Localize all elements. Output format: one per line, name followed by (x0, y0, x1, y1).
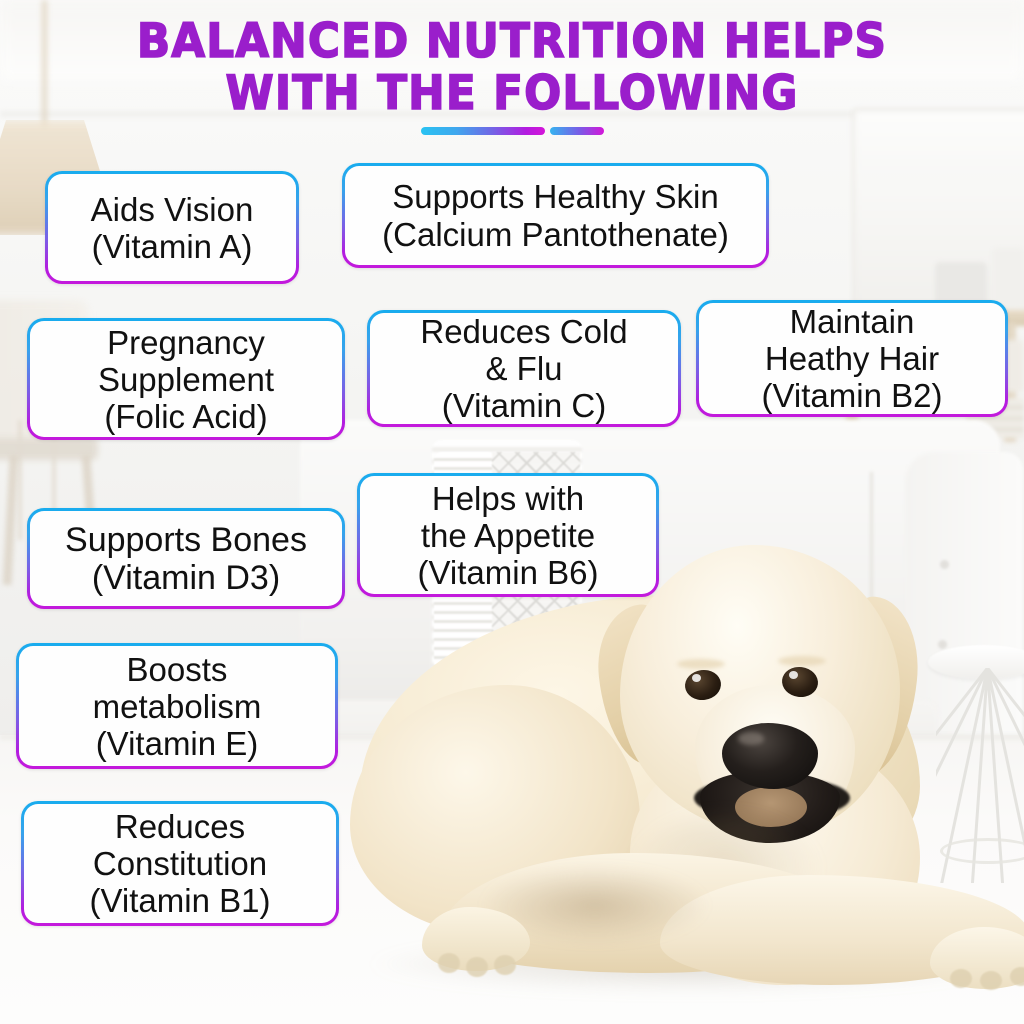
title-line-1: Balanced Nutrition Helps (36, 16, 988, 68)
benefit-card-healthy-skin[interactable]: Supports Healthy Skin (Calcium Pantothen… (342, 163, 769, 268)
benefit-card-inner: Boosts metabolism (Vitamin E) (19, 646, 335, 766)
gradient-divider (0, 127, 1024, 135)
benefit-line: Boosts (127, 651, 228, 688)
dog-toe (950, 969, 972, 988)
benefit-card-inner: Supports Bones (Vitamin D3) (30, 511, 342, 606)
benefit-card-inner: Maintain Heathy Hair (Vitamin B2) (699, 303, 1005, 414)
benefit-line: metabolism (93, 688, 262, 725)
benefit-line: Reduces (115, 808, 245, 845)
benefit-line: (Vitamin A) (92, 228, 253, 265)
dog-eye-highlight (789, 671, 798, 679)
benefit-card-cold-flu[interactable]: Reduces Cold & Flu (Vitamin C) (367, 310, 681, 427)
divider-segment-short (550, 127, 604, 135)
divider-segment-long (421, 127, 545, 135)
benefit-card-boosts-metabolism[interactable]: Boosts metabolism (Vitamin E) (16, 643, 338, 769)
benefit-line: Constitution (93, 845, 267, 882)
benefit-line: (Vitamin B2) (762, 377, 943, 414)
benefit-card-inner: Helps with the Appetite (Vitamin B6) (360, 476, 656, 594)
benefit-line: (Vitamin E) (96, 725, 259, 762)
benefit-card-inner: Aids Vision (Vitamin A) (48, 174, 296, 281)
dog-toe (466, 957, 488, 977)
benefit-card-aids-vision[interactable]: Aids Vision (Vitamin A) (45, 171, 299, 284)
benefit-card-pregnancy[interactable]: Pregnancy Supplement (Folic Acid) (27, 318, 345, 440)
benefit-line: (Calcium Pantothenate) (382, 216, 729, 254)
benefit-card-appetite[interactable]: Helps with the Appetite (Vitamin B6) (357, 473, 659, 597)
benefit-card-inner: Reduces Constitution (Vitamin B1) (24, 804, 336, 923)
benefit-line: (Vitamin D3) (92, 559, 280, 597)
dog-nose-highlight (738, 732, 764, 745)
dog-toe (980, 971, 1002, 990)
benefit-line: Reduces Cold (420, 313, 627, 350)
dog-eye-highlight (692, 674, 701, 682)
benefit-line: Supports Bones (65, 521, 307, 559)
benefit-line: Aids Vision (91, 191, 254, 228)
dog-brow-right (778, 656, 826, 666)
benefit-card-supports-bones[interactable]: Supports Bones (Vitamin D3) (27, 508, 345, 609)
benefit-line: & Flu (485, 350, 562, 387)
benefit-card-inner: Pregnancy Supplement (Folic Acid) (30, 321, 342, 437)
benefit-line: Heathy Hair (765, 340, 939, 377)
benefit-card-healthy-hair[interactable]: Maintain Heathy Hair (Vitamin B2) (696, 300, 1008, 417)
benefit-card-reduces-constitution[interactable]: Reduces Constitution (Vitamin B1) (21, 801, 339, 926)
benefit-line: the Appetite (421, 517, 595, 554)
dog-toe (438, 953, 460, 973)
infographic-poster: Balanced Nutrition Helps With The Follow… (0, 0, 1024, 1024)
benefit-line: Supplement (98, 361, 274, 398)
labrador-puppy (330, 535, 1024, 1024)
benefit-card-inner: Reduces Cold & Flu (Vitamin C) (370, 313, 678, 424)
benefit-line: (Vitamin B6) (418, 554, 599, 591)
benefit-line: Supports Healthy Skin (392, 178, 719, 216)
benefit-line: (Vitamin B1) (90, 882, 271, 919)
benefit-line: Maintain (790, 303, 915, 340)
benefit-line: (Folic Acid) (104, 398, 267, 435)
dog-brow-left (677, 659, 725, 669)
dog-toe (494, 955, 516, 975)
title-line-2: With The Following (36, 68, 988, 120)
benefit-line: Pregnancy (107, 324, 265, 361)
benefit-card-inner: Supports Healthy Skin (Calcium Pantothen… (345, 166, 766, 265)
benefit-line: (Vitamin C) (442, 387, 606, 424)
benefit-line: Helps with (432, 480, 584, 517)
poster-title: Balanced Nutrition Helps With The Follow… (0, 16, 1024, 135)
